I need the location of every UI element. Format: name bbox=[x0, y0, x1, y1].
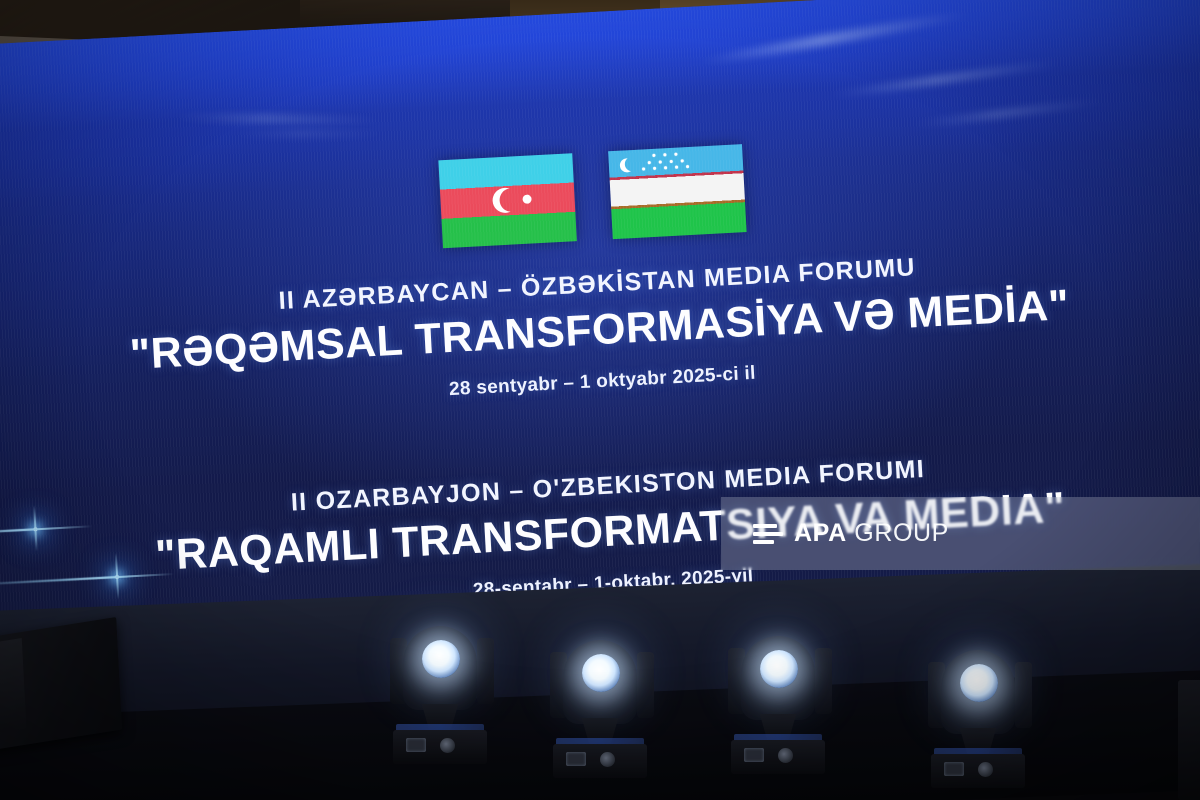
watermark-text: APA GROUP bbox=[794, 519, 949, 548]
light-knob bbox=[778, 748, 793, 763]
light-lens-icon bbox=[422, 640, 460, 678]
light-control-panel bbox=[566, 752, 586, 766]
star-icon bbox=[522, 194, 531, 203]
light-control-panel bbox=[944, 762, 964, 776]
light-head bbox=[741, 636, 815, 720]
light-lens-icon bbox=[582, 654, 620, 692]
watermark-brand-light: GROUP bbox=[854, 519, 949, 547]
twelve-stars-icon bbox=[641, 151, 708, 174]
light-head bbox=[563, 640, 637, 724]
light-head bbox=[941, 650, 1015, 734]
light-knob bbox=[978, 762, 993, 777]
uzbekistan-flag bbox=[608, 144, 746, 239]
screenshot-root: II AZƏRBAYCAN – ÖZBƏKİSTAN MEDIA FORUMU … bbox=[0, 0, 1200, 800]
azerbaijan-flag bbox=[438, 153, 576, 248]
watermark-lockup: APA GROUP bbox=[753, 519, 949, 548]
stage-speaker bbox=[0, 617, 122, 751]
light-knob bbox=[600, 752, 615, 767]
light-head bbox=[403, 626, 477, 710]
stage-equipment-post bbox=[1178, 680, 1200, 800]
light-yoke-right bbox=[637, 652, 654, 718]
light-lens-icon bbox=[960, 664, 998, 702]
light-yoke-right bbox=[477, 638, 494, 704]
light-control-panel bbox=[744, 748, 764, 762]
apa-group-watermark: APA GROUP bbox=[721, 497, 1200, 570]
crescent-icon bbox=[492, 187, 518, 213]
light-knob bbox=[440, 738, 455, 753]
light-yoke-right bbox=[1015, 662, 1032, 728]
light-lens-icon bbox=[760, 650, 798, 688]
apa-logo-icon bbox=[753, 523, 783, 545]
watermark-brand-bold: APA bbox=[794, 519, 847, 547]
crescent-icon bbox=[620, 158, 635, 173]
speaker-grille bbox=[0, 638, 26, 735]
light-control-panel bbox=[406, 738, 426, 752]
light-yoke-right bbox=[815, 648, 832, 714]
